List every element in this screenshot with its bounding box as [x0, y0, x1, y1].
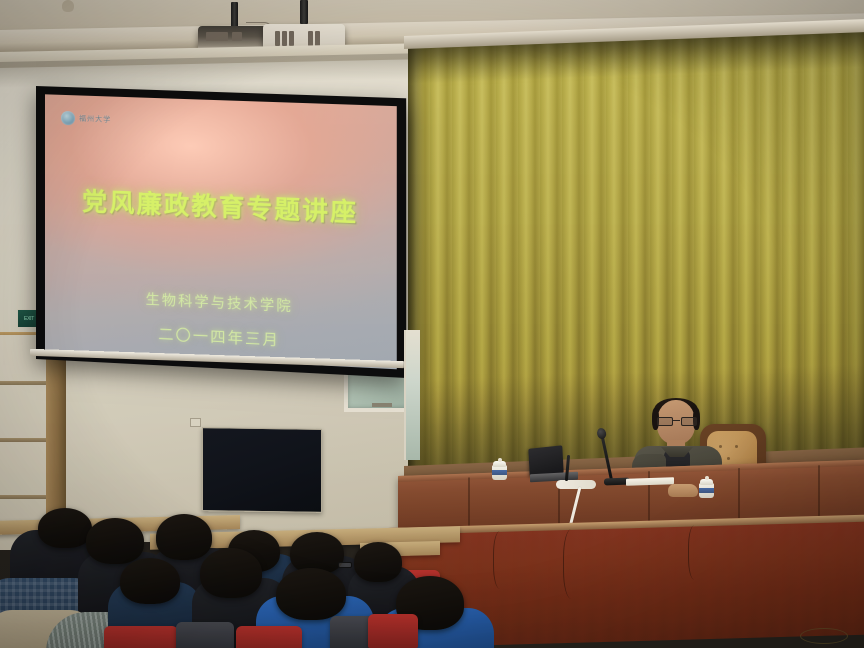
window-handle[interactable]: [372, 403, 392, 407]
university-logo: 福州大学: [61, 109, 127, 128]
wall-outlet: [190, 418, 201, 427]
teacup-right: [699, 478, 714, 498]
slide-subtitle-organization: 生物科学与技术学院: [45, 284, 397, 321]
audience-head: [156, 514, 212, 560]
university-logo-text: 福州大学: [79, 113, 111, 124]
auditorium-seat[interactable]: [368, 614, 418, 648]
audience-head: [276, 568, 346, 620]
power-adapter: [556, 480, 596, 489]
audience-head: [354, 542, 402, 582]
lecture-hall-photo: EXIT 福州大学 党风廉政教育专题讲座 生物科学与技术学院 二〇一四年三月: [0, 0, 864, 648]
auditorium-seat[interactable]: [176, 622, 234, 648]
side-window: [404, 330, 420, 460]
projector-mount-pole: [231, 2, 238, 28]
audience-head: [200, 548, 262, 598]
projector-mount-pole: [300, 0, 308, 24]
audience-area: [0, 500, 864, 648]
audience-head: [86, 518, 144, 564]
auditorium-seat[interactable]: [104, 626, 178, 648]
slide-title: 党风廉政教育专题讲座: [45, 180, 397, 231]
exit-sign-label: EXIT: [24, 316, 34, 322]
teacup-left: [492, 460, 507, 480]
audience-head: [120, 558, 180, 604]
slide-surface: 福州大学 党风廉政教育专题讲座 生物科学与技术学院 二〇一四年三月: [45, 94, 397, 369]
projection-screen: 福州大学 党风廉政教育专题讲座 生物科学与技术学院 二〇一四年三月: [36, 86, 406, 378]
university-emblem-icon: [61, 110, 75, 125]
presenter-glasses-icon: [657, 417, 695, 424]
audience-head: [38, 508, 92, 548]
audience-glasses-icon: [338, 562, 352, 568]
ceiling-fixture: [62, 0, 74, 12]
auditorium-seat[interactable]: [236, 626, 302, 648]
presenter-hands: [668, 484, 698, 497]
